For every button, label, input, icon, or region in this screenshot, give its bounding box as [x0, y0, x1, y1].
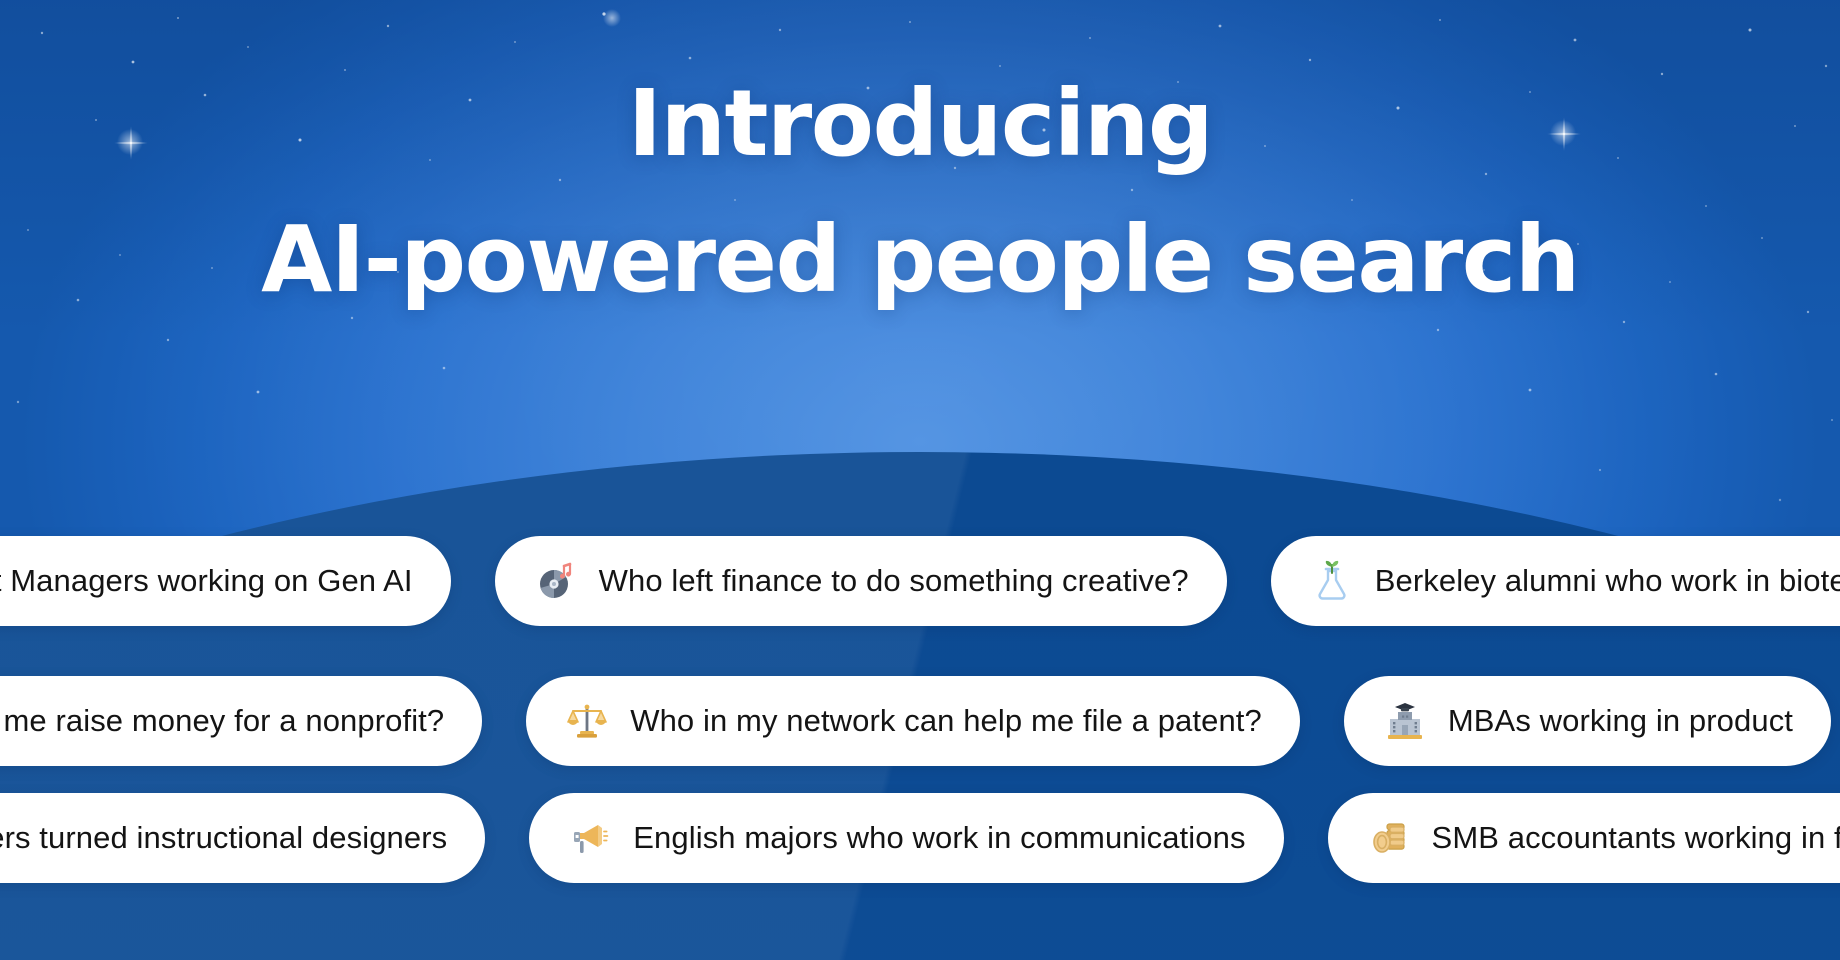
- university-icon: [1382, 698, 1428, 744]
- suggestion-pill-rows: Product Managers working on Gen AI: [0, 0, 1840, 960]
- suggestion-pill[interactable]: English majors who work in communication…: [529, 793, 1283, 883]
- hero-banner: Introducing AI-powered people search Pro…: [0, 0, 1840, 960]
- suggestion-pill-label: Who can help me raise money for a nonpro…: [0, 703, 444, 739]
- suggestion-pill[interactable]: Berkeley alumni who work in biotech: [1271, 536, 1840, 626]
- pill-row-3: Teachers turned instructional designers: [0, 793, 1840, 883]
- suggestion-pill[interactable]: Who can help me raise money for a nonpro…: [0, 676, 482, 766]
- suggestion-pill-label: Who left finance to do something creativ…: [599, 563, 1189, 599]
- suggestion-pill-label: Berkeley alumni who work in biotech: [1375, 563, 1840, 599]
- suggestion-pill[interactable]: SMB accountants working in fintech: [1328, 793, 1840, 883]
- pill-row-1: Product Managers working on Gen AI: [0, 536, 1840, 626]
- suggestion-pill[interactable]: Product Managers working on Gen AI: [0, 536, 451, 626]
- megaphone-icon: [567, 815, 613, 861]
- suggestion-pill-label: Who in my network can help me file a pat…: [630, 703, 1262, 739]
- suggestion-pill-label: Teachers turned instructional designers: [0, 820, 447, 856]
- suggestion-pill-label: SMB accountants working in fintech: [1432, 820, 1840, 856]
- coins-icon: [1366, 815, 1412, 861]
- cd-music-icon: [533, 558, 579, 604]
- flask-plant-icon: [1309, 558, 1355, 604]
- suggestion-pill-label: MBAs working in product: [1448, 703, 1793, 739]
- scales-icon: [564, 698, 610, 744]
- suggestion-pill-label: Product Managers working on Gen AI: [0, 563, 413, 599]
- suggestion-pill[interactable]: MBAs working in product: [1344, 676, 1831, 766]
- suggestion-pill[interactable]: Who in my network can help me file a pat…: [526, 676, 1300, 766]
- suggestion-pill-label: English majors who work in communication…: [633, 820, 1245, 856]
- pill-row-2: Who can help me raise money for a nonpro…: [0, 676, 1831, 766]
- suggestion-pill[interactable]: Who left finance to do something creativ…: [495, 536, 1227, 626]
- suggestion-pill[interactable]: Teachers turned instructional designers: [0, 793, 485, 883]
